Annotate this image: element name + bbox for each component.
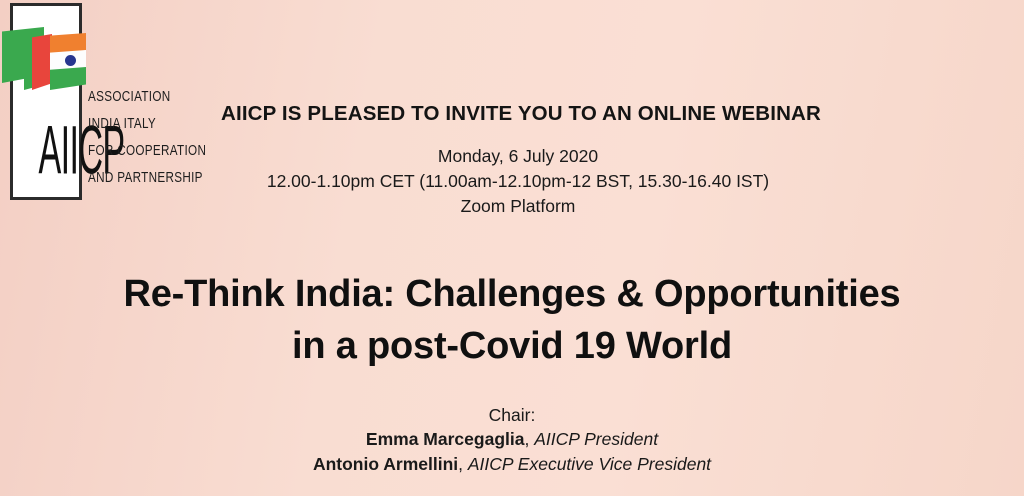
chair-section: Chair: Emma Marcegaglia, AIICP President… — [0, 403, 1024, 477]
invitation-kicker: AIICP IS PLEASED TO INVITE YOU TO AN ONL… — [0, 102, 1024, 126]
chair-person-name: Antonio Armellini — [313, 454, 458, 474]
italian-flag-red-icon — [32, 34, 52, 90]
chair-label: Chair: — [0, 403, 1024, 427]
event-time: 12.00-1.10pm CET (11.00am-12.10pm-12 BST… — [12, 169, 1024, 194]
chair-person-separator: , — [458, 454, 468, 474]
chair-person-role: AIICP Executive Vice President — [468, 454, 711, 474]
ashoka-chakra-icon — [65, 55, 76, 66]
chair-person: Emma Marcegaglia, AIICP President — [0, 427, 1024, 452]
page-title: Re-Think India: Challenges & Opportuniti… — [0, 268, 1024, 372]
event-meta: Monday, 6 July 2020 12.00-1.10pm CET (11… — [0, 144, 1024, 219]
event-date: Monday, 6 July 2020 — [12, 144, 1024, 169]
chair-person-separator: , — [524, 429, 534, 449]
page-title-line-1: Re-Think India: Challenges & Opportuniti… — [0, 268, 1024, 320]
page-title-line-2: in a post-Covid 19 World — [0, 320, 1024, 372]
event-platform: Zoom Platform — [12, 194, 1024, 219]
chair-person-role: AIICP President — [534, 429, 658, 449]
webinar-invitation-poster: AIICP ASSOCIATION INDIA ITALY FOR COOPER… — [0, 0, 1024, 496]
chair-person-name: Emma Marcegaglia — [366, 429, 525, 449]
chair-person: Antonio Armellini, AIICP Executive Vice … — [0, 452, 1024, 477]
